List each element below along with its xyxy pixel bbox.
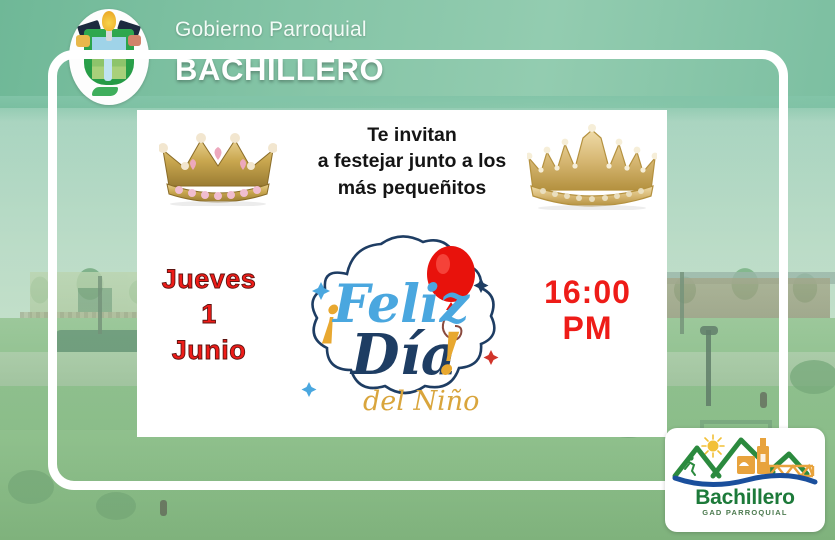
- event-time-hour: 16:00: [515, 275, 660, 311]
- invitation-card: Te invitan a festejar junto a los más pe…: [137, 110, 667, 437]
- feliz-dia-del-nino-logo: ¡ Feliz Día ! del Niño: [285, 222, 533, 427]
- invitation-text: Te invitan a festejar junto a los más pe…: [287, 122, 537, 201]
- badge-subtitle: GAD PARROQUIAL: [665, 508, 825, 517]
- logo-exclamation: !: [437, 320, 462, 388]
- invitation-line-1: Te invitan: [287, 122, 537, 148]
- badge-name: Bachillero: [665, 486, 825, 510]
- header-org-line: Gobierno Parroquial: [175, 18, 367, 42]
- poster-canvas: Gobierno Parroquial BACHILLERO: [0, 0, 835, 540]
- crown-icon: [527, 124, 657, 210]
- bachillero-logo-badge: Bachillero GAD PARROQUIAL: [665, 428, 825, 532]
- invitation-line-2: a festejar junto a los: [287, 148, 537, 174]
- event-month: Junio: [143, 334, 275, 366]
- crown-icon: [159, 128, 277, 206]
- invitation-line-3: más pequeñitos: [287, 175, 537, 201]
- event-weekday: Jueves: [143, 263, 275, 295]
- sun-icon: [702, 435, 724, 457]
- event-time: 16:00 PM: [515, 275, 660, 347]
- event-date: Jueves 1 Junio: [143, 260, 275, 369]
- event-day: 1: [143, 298, 275, 330]
- river-icon: [675, 475, 815, 484]
- header-title: BACHILLERO: [175, 52, 384, 88]
- logo-word-del-nino: del Niño: [363, 386, 479, 417]
- coat-of-arms-icon: [60, 7, 158, 107]
- event-time-meridiem: PM: [515, 311, 660, 347]
